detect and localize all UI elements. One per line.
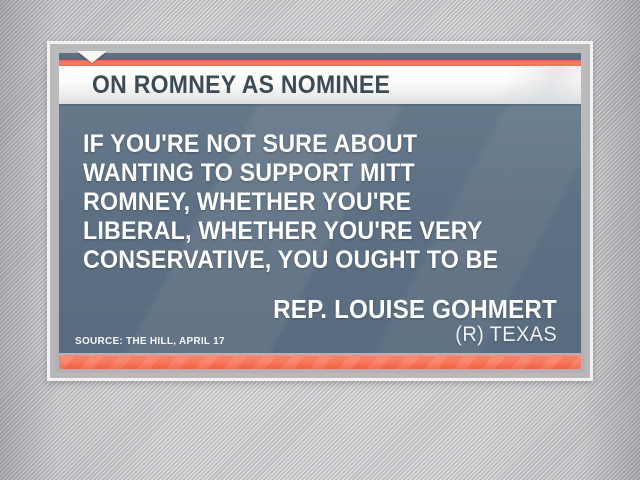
quote-card: ON ROMNEY AS NOMINEE IF YOU'RE NOT SURE … xyxy=(47,41,593,381)
quote-body-panel: IF YOU'RE NOT SURE ABOUT WANTING TO SUPP… xyxy=(59,104,581,353)
screen-background: ON ROMNEY AS NOMINEE IF YOU'RE NOT SURE … xyxy=(0,0,640,480)
quote-card-inner-frame: ON ROMNEY AS NOMINEE IF YOU'RE NOT SURE … xyxy=(55,49,585,373)
speaker-name: REP. LOUISE GOHMERT xyxy=(94,296,557,323)
quote-text: IF YOU'RE NOT SURE ABOUT WANTING TO SUPP… xyxy=(83,130,524,275)
title-bar: ON ROMNEY AS NOMINEE xyxy=(59,66,581,104)
source-row: SOURCE: THE HILL, APRIL 17 xyxy=(75,335,233,347)
source-label: SOURCE: THE HILL, APRIL 17 xyxy=(75,335,225,347)
triangle-down-icon xyxy=(77,51,107,63)
bottom-red-accent-bar xyxy=(59,355,581,369)
card-top-strip xyxy=(59,53,581,60)
page-title: ON ROMNEY AS NOMINEE xyxy=(92,73,390,98)
